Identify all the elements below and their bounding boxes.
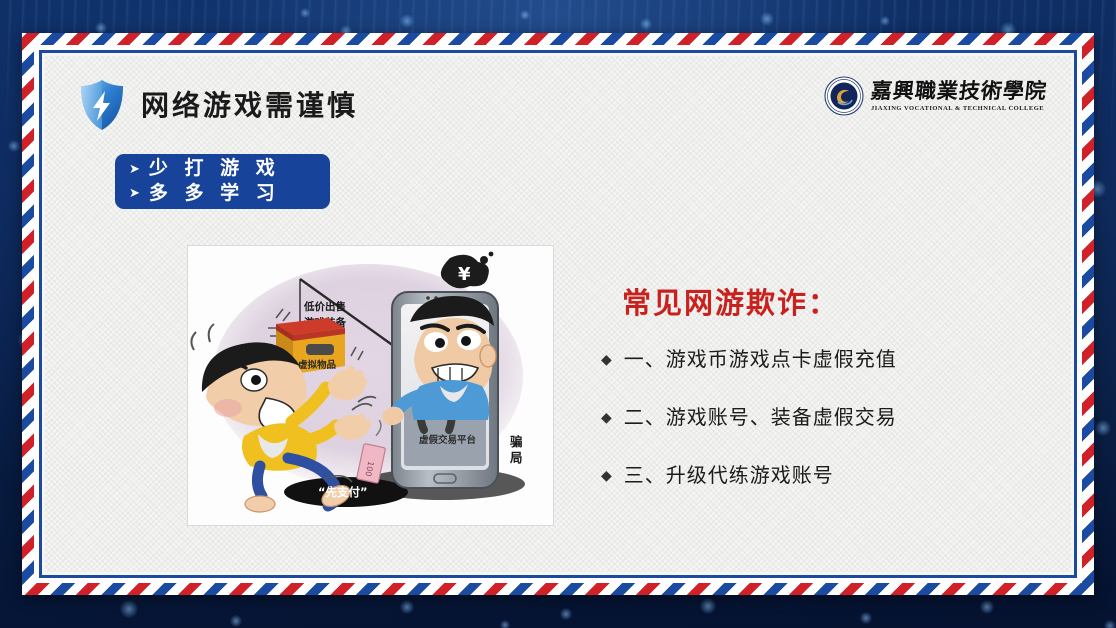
- frame-navy-border: 网络游戏需谨慎 嘉: [39, 50, 1077, 578]
- svg-text:虚假交易平台: 虚假交易平台: [419, 434, 477, 446]
- slogan-line-1: 少 打 游 戏: [149, 157, 280, 181]
- page-title: 网络游戏需谨慎: [141, 84, 358, 124]
- college-name-en: JIAXING VOCATIONAL & TECHNICAL COLLEGE: [871, 105, 1044, 112]
- svg-text:“先支付”: “先支付”: [318, 485, 368, 499]
- slogan-line-2: 多 多 学 习: [149, 182, 280, 206]
- illustration-frame: 低价出售 游戏装备: [187, 245, 554, 526]
- slogan-box: ➤ 少 打 游 戏 ➤ 多 多 学 习: [115, 154, 330, 209]
- diamond-bullet-icon: ◆: [601, 462, 612, 488]
- fraud-type-list: ◆ 一、游戏币游戏点卡虚假充值 ◆ 二、游戏账号、装备虚假交易 ◆ 三、升级代练…: [601, 346, 1061, 520]
- list-item: ◆ 一、游戏币游戏点卡虚假充值: [601, 346, 1061, 372]
- diamond-bullet-icon: ◆: [601, 404, 612, 430]
- college-name-block: 嘉興職業技術學院 JIAXING VOCATIONAL & TECHNICAL …: [871, 80, 1047, 112]
- list-item-label: 三、升级代练游戏账号: [624, 462, 834, 488]
- frame-inner-white: 网络游戏需谨慎 嘉: [34, 45, 1082, 583]
- online-game-fraud-cartoon: 低价出售 游戏装备: [188, 246, 553, 525]
- list-item: ◆ 三、升级代练游戏账号: [601, 462, 1061, 488]
- section-heading: 常见网游欺诈：: [622, 280, 839, 322]
- slide-content-area: 网络游戏需谨慎 嘉: [45, 56, 1071, 572]
- slide-canvas: 网络游戏需谨慎 嘉: [0, 0, 1116, 628]
- college-emblem-icon: [824, 76, 864, 116]
- college-logo: 嘉興職業技術學院 JIAXING VOCATIONAL & TECHNICAL …: [824, 76, 1047, 116]
- arrow-marker-icon: ➤: [129, 186, 140, 199]
- airmail-frame: 网络游戏需谨慎 嘉: [22, 33, 1094, 595]
- svg-text:虚拟物品: 虚拟物品: [298, 359, 336, 371]
- list-item-label: 二、游戏账号、装备虚假交易: [624, 404, 897, 430]
- slogan-row-1: ➤ 少 打 游 戏: [129, 157, 330, 181]
- svg-text:骗: 骗: [510, 434, 523, 449]
- college-name-cn: 嘉興職業技術學院: [870, 80, 1048, 102]
- svg-text:¥: ¥: [458, 264, 471, 285]
- list-item: ◆ 二、游戏账号、装备虚假交易: [601, 404, 1061, 430]
- svg-text:局: 局: [510, 450, 523, 465]
- slogan-row-2: ➤ 多 多 学 习: [129, 182, 330, 206]
- diamond-bullet-icon: ◆: [601, 346, 612, 372]
- list-item-label: 一、游戏币游戏点卡虚假充值: [624, 346, 897, 372]
- shield-lightning-icon: [79, 79, 125, 131]
- arrow-marker-icon: ➤: [129, 162, 140, 175]
- svg-text:低价出售: 低价出售: [303, 300, 346, 313]
